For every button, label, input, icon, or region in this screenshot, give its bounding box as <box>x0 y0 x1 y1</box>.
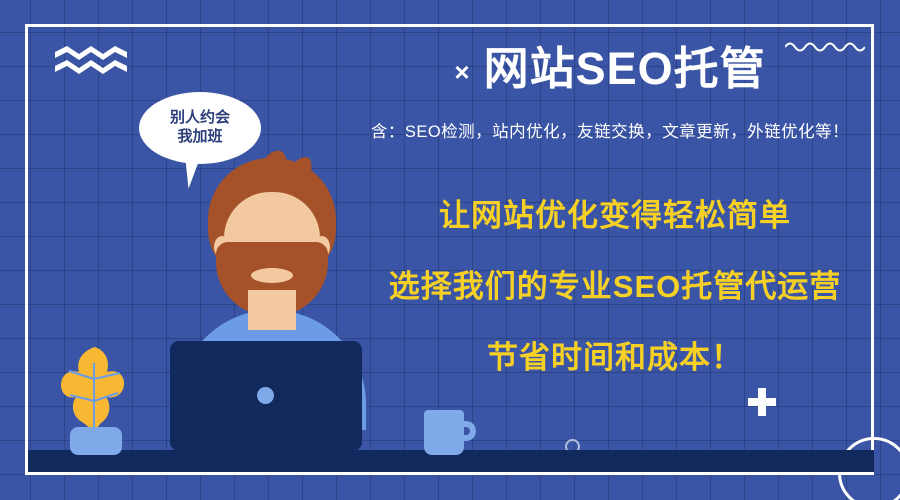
slogan-block: 让网站优化变得轻松简单 选择我们的专业SEO托管代运营 节省时间和成本！ <box>335 190 895 377</box>
mug-handle <box>458 421 476 441</box>
neck-shape <box>248 290 296 330</box>
subtitle-text: 含：SEO检测，站内优化，友链交换，文章更新，外链优化等！ <box>330 118 890 142</box>
plus-icon <box>748 388 776 416</box>
laptop-illustration <box>170 341 362 451</box>
speech-bubble-tail <box>186 159 203 188</box>
seo-promo-banner: × 网站SEO托管 含：SEO检测，站内优化，友链交换，文章更新，外链优化等！ … <box>0 0 900 500</box>
laptop-logo-icon <box>257 387 274 404</box>
speech-bubble-line-1: 别人约会 <box>170 109 230 128</box>
title-text: 网站SEO托管 <box>484 44 766 94</box>
x-mark-icon: × <box>454 59 469 85</box>
slogan-line-3: 节省时间和成本！ <box>335 332 895 377</box>
mouth-shape <box>251 268 293 283</box>
slogan-line-2: 选择我们的专业SEO托管代运营 <box>335 261 895 306</box>
slogan-line-1: 让网站优化变得轻松简单 <box>335 190 895 235</box>
speech-bubble-line-2: 我加班 <box>177 128 222 147</box>
potted-plant-illustration <box>58 345 132 453</box>
speech-bubble: 别人约会 我加班 <box>139 92 261 164</box>
coffee-mug-illustration <box>424 410 482 455</box>
double-wave-icon <box>55 44 127 76</box>
page-title: × 网站SEO托管 <box>340 44 880 94</box>
plant-pot <box>70 427 122 455</box>
